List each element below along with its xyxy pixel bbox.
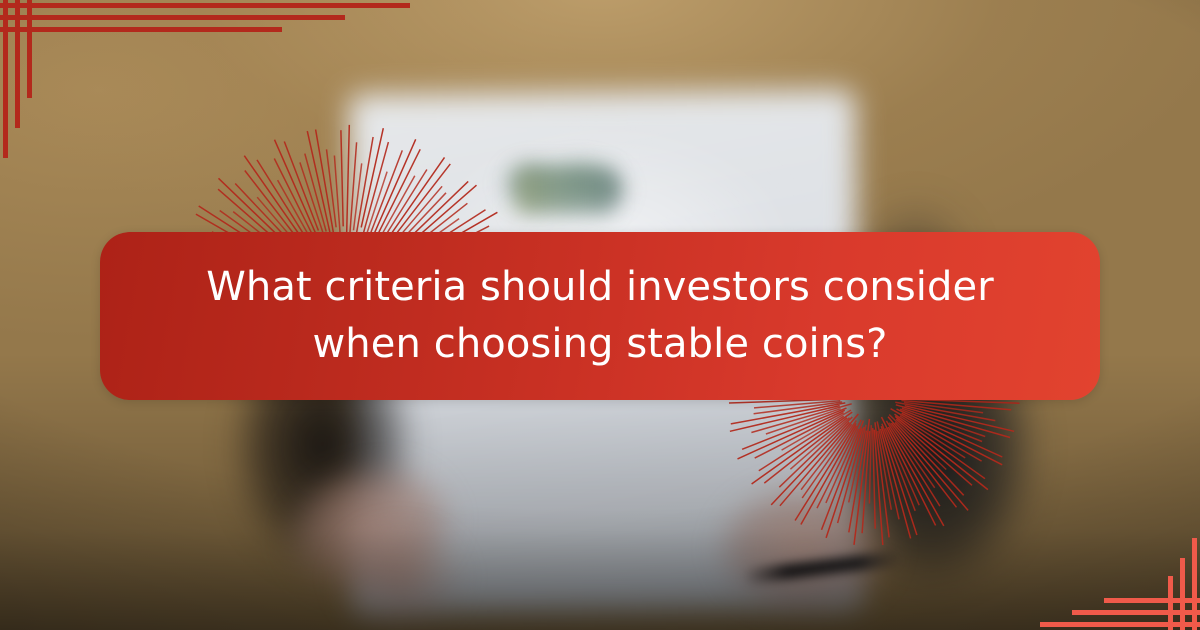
page-title: What criteria should investors consider … xyxy=(157,259,1043,373)
share-card-canvas: What criteria should investors consider … xyxy=(0,0,1200,630)
title-banner: What criteria should investors consider … xyxy=(100,232,1100,400)
